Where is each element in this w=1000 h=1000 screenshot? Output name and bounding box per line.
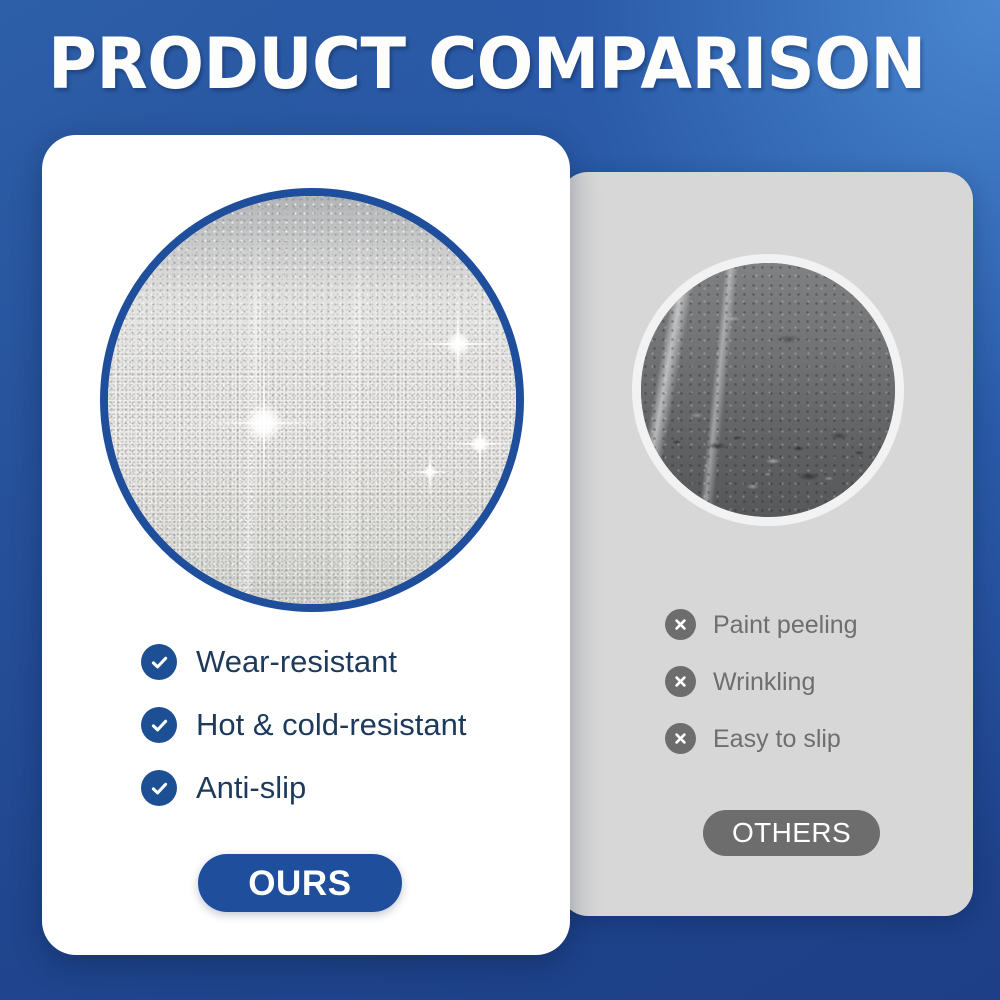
list-item: Wrinkling xyxy=(665,666,858,697)
ours-photo-fine-speckle-texture xyxy=(108,196,516,604)
list-item-label: Wear-resistant xyxy=(196,645,397,679)
page-title: PRODUCT COMPARISON xyxy=(48,26,1000,102)
list-item: Hot & cold-resistant xyxy=(141,707,467,743)
check-circle-icon xyxy=(141,770,177,806)
list-item-label: Anti-slip xyxy=(196,771,306,805)
x-circle-icon xyxy=(665,609,696,640)
ours-product-photo xyxy=(100,188,524,612)
list-item-label: Easy to slip xyxy=(713,725,841,753)
list-item-label: Wrinkling xyxy=(713,668,815,696)
ours-badge: OURS xyxy=(198,854,402,912)
others-product-photo xyxy=(632,254,904,526)
list-item-label: Paint peeling xyxy=(713,611,858,639)
list-item: Easy to slip xyxy=(665,723,858,754)
x-circle-icon xyxy=(665,723,696,754)
list-item: Paint peeling xyxy=(665,609,858,640)
others-badge: OTHERS xyxy=(703,810,880,856)
ours-card: Wear-resistant Hot & cold-resistant Anti… xyxy=(42,135,570,955)
others-photo-rubble-texture xyxy=(641,410,895,517)
ours-feature-list: Wear-resistant Hot & cold-resistant Anti… xyxy=(141,644,467,833)
list-item: Wear-resistant xyxy=(141,644,467,680)
others-feature-list: Paint peeling Wrinkling Easy to slip xyxy=(665,609,858,780)
check-circle-icon xyxy=(141,644,177,680)
comparison-infographic: PRODUCT COMPARISON Paint peeling Wrinkli… xyxy=(0,0,1000,1000)
list-item-label: Hot & cold-resistant xyxy=(196,708,467,742)
others-card: Paint peeling Wrinkling Easy to slip OTH… xyxy=(560,172,973,916)
x-circle-icon xyxy=(665,666,696,697)
others-badge-label: OTHERS xyxy=(732,819,851,847)
check-circle-icon xyxy=(141,707,177,743)
ours-badge-label: OURS xyxy=(248,866,352,901)
list-item: Anti-slip xyxy=(141,770,467,806)
